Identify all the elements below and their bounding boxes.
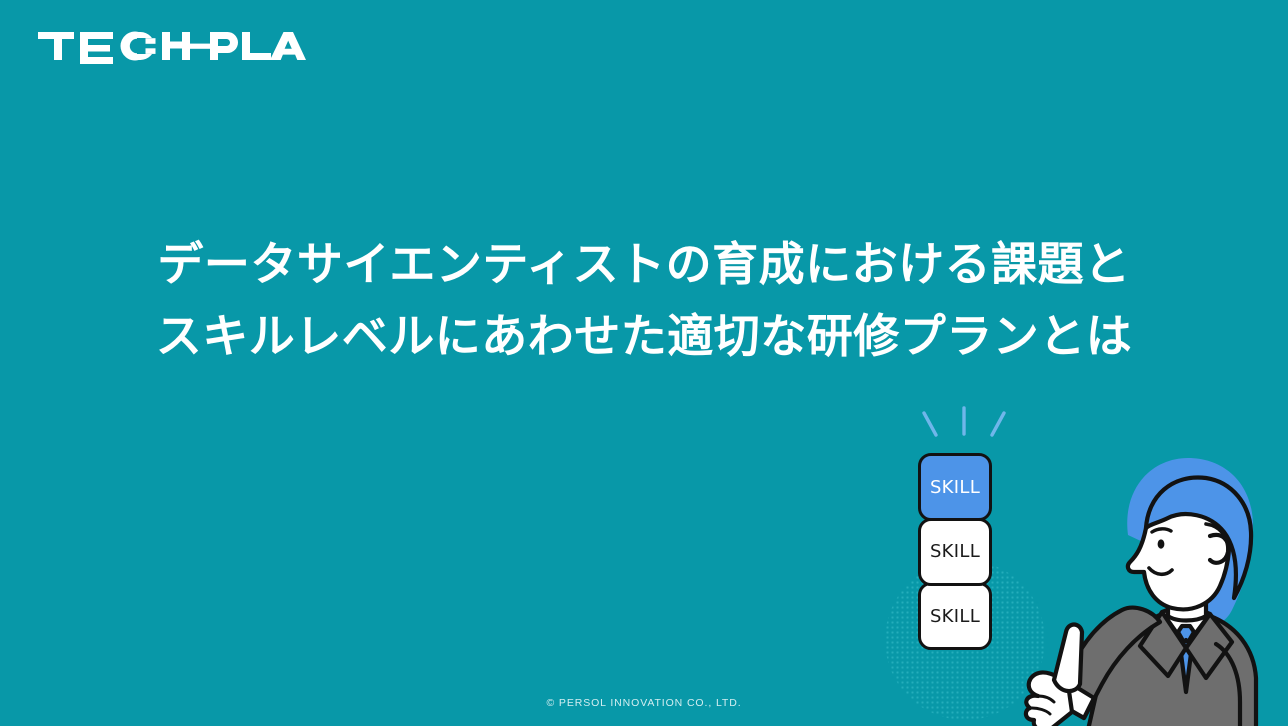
skill-block-stack: SKILL SKILL SKILL <box>918 453 992 650</box>
slide-canvas: データサイエンティストの育成における課題と スキルレベルにあわせた適切な研修プラ… <box>0 0 1288 726</box>
page-title-line-2: スキルレベルにあわせた適切な研修プランとは <box>0 300 1288 372</box>
skill-block-middle[interactable]: SKILL <box>918 518 992 586</box>
copyright-footer: © PERSOL INNOVATION CO., LTD. <box>0 697 1288 709</box>
page-title: データサイエンティストの育成における課題と スキルレベルにあわせた適切な研修プラ… <box>0 228 1288 372</box>
skill-block-label: SKILL <box>930 541 980 562</box>
tech-play-wordmark-icon <box>38 26 306 66</box>
page-title-line-1: データサイエンティストの育成における課題と <box>0 228 1288 300</box>
skill-block-label: SKILL <box>930 606 980 627</box>
tech-play-logo[interactable] <box>38 26 306 66</box>
skill-block-highlighted[interactable]: SKILL <box>918 453 992 521</box>
illustration-group: SKILL SKILL SKILL <box>860 395 1288 726</box>
skill-block-bottom[interactable]: SKILL <box>918 582 992 650</box>
pointing-businessperson-illustration <box>1010 440 1288 726</box>
skill-block-label: SKILL <box>930 477 980 498</box>
